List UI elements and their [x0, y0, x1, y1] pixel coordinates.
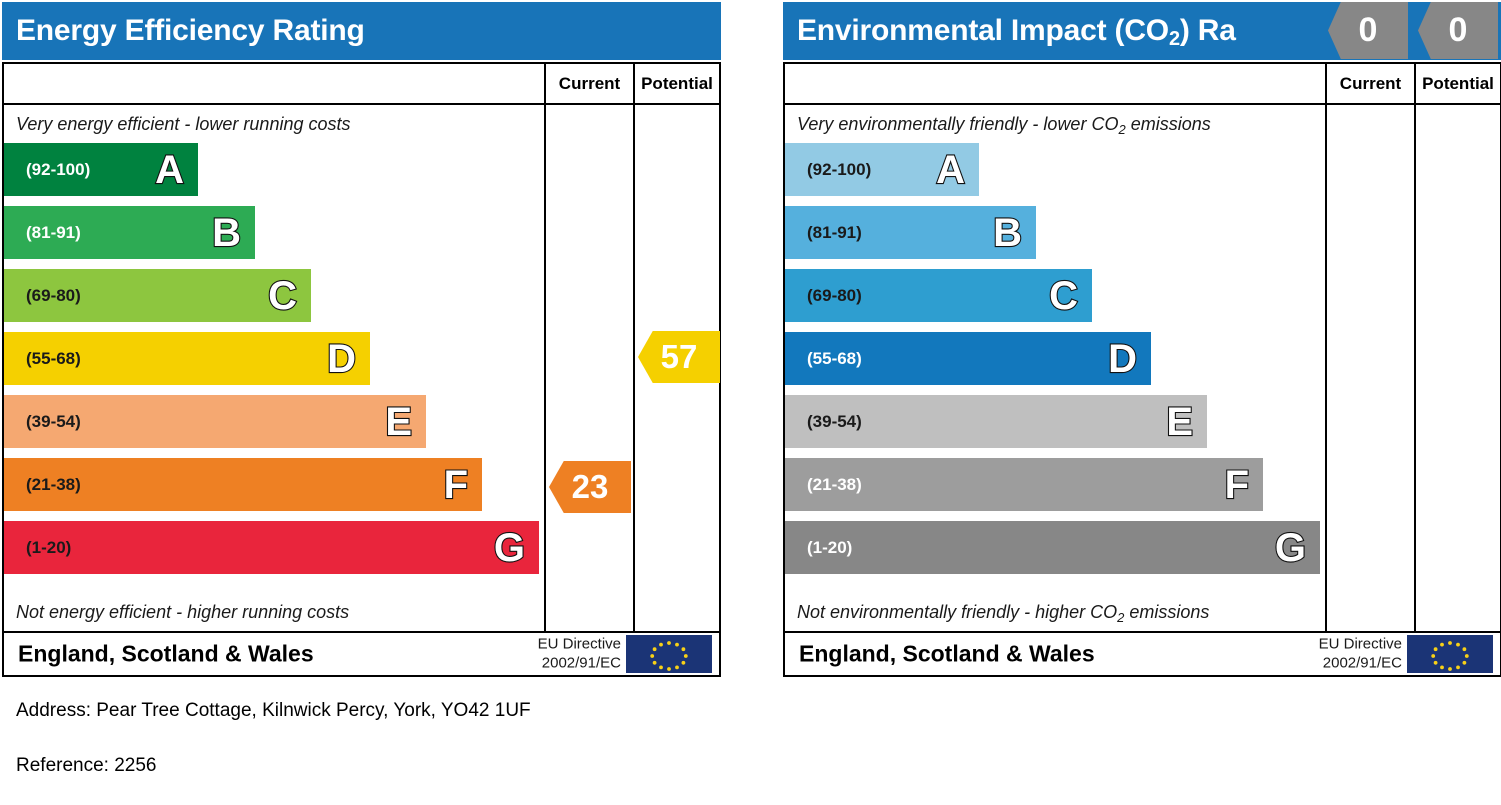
- env-band-a-range: (92-100): [807, 160, 871, 180]
- property-address: Address: Pear Tree Cottage, Kilnwick Per…: [16, 700, 531, 722]
- env-potential-zero-badge: 0: [1418, 2, 1498, 59]
- env-header-blank: [785, 64, 1325, 103]
- energy-band-g-letter: G: [494, 528, 525, 568]
- energy-chart-title: Energy Efficiency Rating: [16, 14, 365, 48]
- env-band-f-range: (21-38): [807, 475, 862, 495]
- env-chart-title: Environmental Impact (CO2) Ra: [797, 14, 1236, 48]
- env-body-row: Very environmentally friendly - lower CO…: [785, 105, 1500, 633]
- env-top-caption-a: Very environmentally friendly - lower CO: [797, 114, 1118, 134]
- energy-band-d-range: (55-68): [26, 349, 81, 369]
- env-band-d-letter: D: [1108, 339, 1137, 379]
- env-top-caption: Very environmentally friendly - lower CO…: [797, 114, 1211, 135]
- env-current-column: [1325, 105, 1414, 631]
- energy-potential-column: 57: [633, 105, 719, 631]
- energy-band-e-range: (39-54): [26, 412, 81, 432]
- property-reference: Reference: 2256: [16, 755, 157, 777]
- energy-bottom-caption: Not energy efficient - higher running co…: [16, 602, 349, 623]
- energy-footer-region: England, Scotland & Wales: [18, 641, 314, 668]
- energy-body-row: Very energy efficient - lower running co…: [4, 105, 719, 633]
- energy-potential-badge: 57: [638, 331, 720, 383]
- env-header-current: Current: [1325, 64, 1414, 103]
- energy-band-d: (55-68) D: [4, 332, 370, 385]
- energy-grid: Current Potential Very energy efficient …: [2, 62, 721, 677]
- env-band-g: (1-20) G: [785, 521, 1320, 574]
- energy-header-blank: [4, 64, 544, 103]
- env-band-e-range: (39-54): [807, 412, 862, 432]
- energy-band-f: (21-38) F: [4, 458, 482, 511]
- energy-eu-directive: EU Directive 2002/91/EC: [538, 635, 621, 673]
- environmental-impact-chart: Environmental Impact (CO2) Ra 0 0 Curren…: [783, 2, 1501, 677]
- env-top-caption-sub: 2: [1118, 122, 1125, 137]
- env-grid: Current Potential Very environmentally f…: [783, 62, 1501, 677]
- env-potential-column: [1414, 105, 1500, 631]
- env-current-zero-badge: 0: [1328, 2, 1408, 59]
- env-band-g-range: (1-20): [807, 538, 852, 558]
- eu-flag-icon: [626, 635, 712, 673]
- env-band-a: (92-100) A: [785, 143, 979, 196]
- env-footer-region: England, Scotland & Wales: [799, 641, 1095, 668]
- energy-band-f-letter: F: [444, 465, 468, 505]
- energy-directive-line2: 2002/91/EC: [538, 654, 621, 673]
- energy-band-g-range: (1-20): [26, 538, 71, 558]
- energy-band-g: (1-20) G: [4, 521, 539, 574]
- env-bottom-caption-b: emissions: [1124, 602, 1209, 622]
- env-band-a-letter: A: [936, 150, 965, 190]
- env-band-c-letter: C: [1049, 276, 1078, 316]
- env-band-d: (55-68) D: [785, 332, 1151, 385]
- env-title-subscript: 2: [1169, 28, 1180, 50]
- env-band-b: (81-91) B: [785, 206, 1036, 259]
- energy-band-e: (39-54) E: [4, 395, 426, 448]
- energy-band-a-range: (92-100): [26, 160, 90, 180]
- energy-efficiency-chart: Energy Efficiency Rating Current Potenti…: [2, 2, 721, 677]
- energy-title-bar: Energy Efficiency Rating: [2, 2, 721, 60]
- env-band-f: (21-38) F: [785, 458, 1263, 511]
- energy-band-b: (81-91) B: [4, 206, 255, 259]
- energy-band-a: (92-100) A: [4, 143, 198, 196]
- env-footer-row: England, Scotland & Wales EU Directive 2…: [785, 633, 1500, 675]
- env-band-f-letter: F: [1225, 465, 1249, 505]
- env-eu-directive: EU Directive 2002/91/EC: [1319, 635, 1402, 673]
- energy-band-f-range: (21-38): [26, 475, 81, 495]
- energy-band-e-letter: E: [385, 402, 412, 442]
- env-bottom-caption: Not environmentally friendly - higher CO…: [797, 602, 1209, 623]
- energy-current-badge: 23: [549, 461, 631, 513]
- energy-band-b-letter: B: [212, 213, 241, 253]
- env-band-d-range: (55-68): [807, 349, 862, 369]
- env-band-b-letter: B: [993, 213, 1022, 253]
- env-title-tail: ) Ra: [1180, 14, 1236, 47]
- env-directive-line2: 2002/91/EC: [1319, 654, 1402, 673]
- env-band-e: (39-54) E: [785, 395, 1207, 448]
- env-title-main: Environmental Impact (CO: [797, 14, 1169, 47]
- energy-band-a-letter: A: [155, 150, 184, 190]
- energy-header-row: Current Potential: [4, 64, 719, 105]
- epc-page: Energy Efficiency Rating Current Potenti…: [0, 0, 1501, 805]
- energy-band-c-letter: C: [268, 276, 297, 316]
- energy-band-c-range: (69-80): [26, 286, 81, 306]
- env-band-c: (69-80) C: [785, 269, 1092, 322]
- env-bars-area: Very environmentally friendly - lower CO…: [785, 105, 1325, 631]
- energy-top-caption: Very energy efficient - lower running co…: [16, 114, 351, 135]
- energy-band-d-letter: D: [327, 339, 356, 379]
- env-band-g-letter: G: [1275, 528, 1306, 568]
- energy-header-current: Current: [544, 64, 633, 103]
- env-bottom-caption-a: Not environmentally friendly - higher CO: [797, 602, 1117, 622]
- energy-band-b-range: (81-91): [26, 223, 81, 243]
- env-bottom-caption-sub: 2: [1117, 610, 1124, 625]
- energy-bars-area: Very energy efficient - lower running co…: [4, 105, 544, 631]
- energy-footer-row: England, Scotland & Wales EU Directive 2…: [4, 633, 719, 675]
- energy-header-potential: Potential: [633, 64, 719, 103]
- env-directive-line1: EU Directive: [1319, 635, 1402, 654]
- env-band-c-range: (69-80): [807, 286, 862, 306]
- env-header-row: Current Potential: [785, 64, 1500, 105]
- energy-current-column: 23: [544, 105, 633, 631]
- env-header-potential: Potential: [1414, 64, 1500, 103]
- eu-flag-icon: [1407, 635, 1493, 673]
- env-band-e-letter: E: [1166, 402, 1193, 442]
- energy-directive-line1: EU Directive: [538, 635, 621, 654]
- env-top-caption-b: emissions: [1126, 114, 1211, 134]
- env-band-b-range: (81-91): [807, 223, 862, 243]
- energy-band-c: (69-80) C: [4, 269, 311, 322]
